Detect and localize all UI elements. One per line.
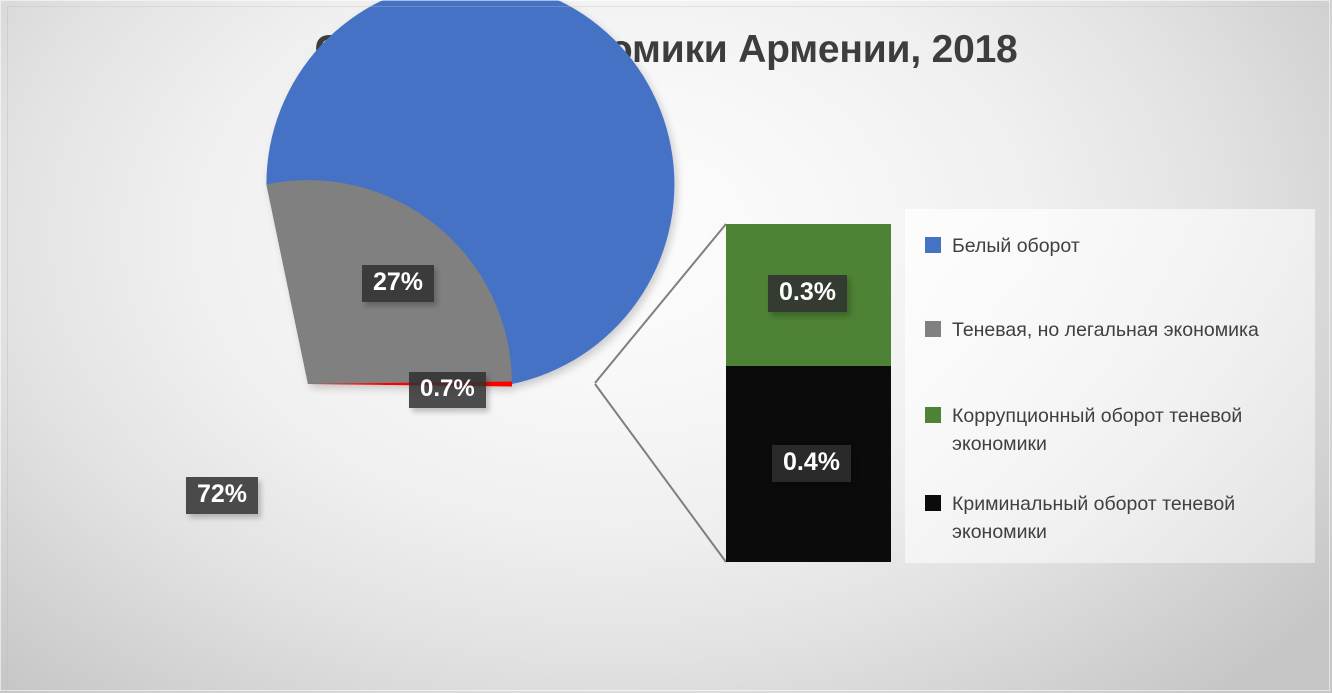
chart-legend: Белый оборот Теневая, но легальная эконо…	[905, 209, 1315, 563]
legend-item-corruption[interactable]: Коррупционный оборот теневой экономики	[925, 402, 1300, 458]
data-label-criminal: 0.4%	[772, 445, 851, 482]
legend-item-shadow-legal[interactable]: Теневая, но легальная экономика	[925, 316, 1300, 344]
data-label-white-turnover: 72%	[186, 477, 258, 514]
legend-item-label: Белый оборот	[952, 232, 1080, 260]
legend-item-label: Коррупционный оборот теневой экономики	[952, 402, 1300, 458]
legend-swatch-icon	[925, 495, 941, 511]
legend-item-label: Теневая, но легальная экономика	[952, 316, 1259, 344]
data-label-shadow-legal: 27%	[362, 265, 434, 302]
data-label-other: 0.7%	[409, 372, 486, 408]
legend-item-white-turnover[interactable]: Белый оборот	[925, 232, 1300, 260]
chart-slide: Структура экономики Армении, 2018	[0, 0, 1332, 693]
legend-swatch-icon	[925, 321, 941, 337]
legend-swatch-icon	[925, 237, 941, 253]
data-label-corruption: 0.3%	[768, 275, 847, 312]
legend-item-criminal[interactable]: Криминальный оборот теневой экономики	[925, 490, 1300, 546]
legend-swatch-icon	[925, 407, 941, 423]
legend-item-label: Криминальный оборот теневой экономики	[952, 490, 1300, 546]
